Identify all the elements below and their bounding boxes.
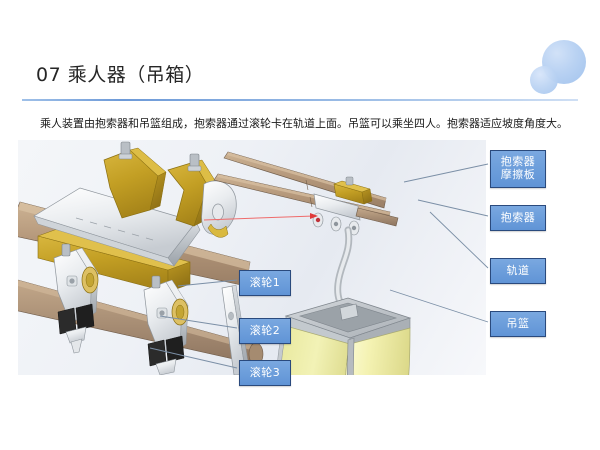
roller-bracket-2: [144, 276, 188, 375]
label-friction-plate-line2: 摩擦板: [501, 169, 536, 182]
decorative-circles: [524, 40, 594, 102]
circle-small-icon: [530, 66, 558, 94]
label-friction-plate[interactable]: 抱索器 摩擦板: [490, 150, 546, 188]
title-divider: [22, 99, 578, 101]
label-grip[interactable]: 抱索器: [490, 205, 546, 231]
description-text: 乘人装置由抱索器和吊篮组成，抱索器通过滚轮卡在轨道上面。吊篮可以乘坐四人。抱索器…: [40, 116, 560, 131]
label-roller-3[interactable]: 滚轮3: [239, 360, 291, 386]
slide: 07 乘人器（吊箱） 乘人装置由抱索器和吊篮组成，抱索器通过滚轮卡在轨道上面。吊…: [0, 0, 600, 450]
label-roller-2[interactable]: 滚轮2: [239, 318, 291, 344]
label-rail[interactable]: 轨道: [490, 258, 546, 284]
label-roller-1[interactable]: 滚轮1: [239, 270, 291, 296]
label-cabin[interactable]: 吊篮: [490, 311, 546, 337]
page-title: 07 乘人器（吊箱）: [36, 60, 204, 87]
